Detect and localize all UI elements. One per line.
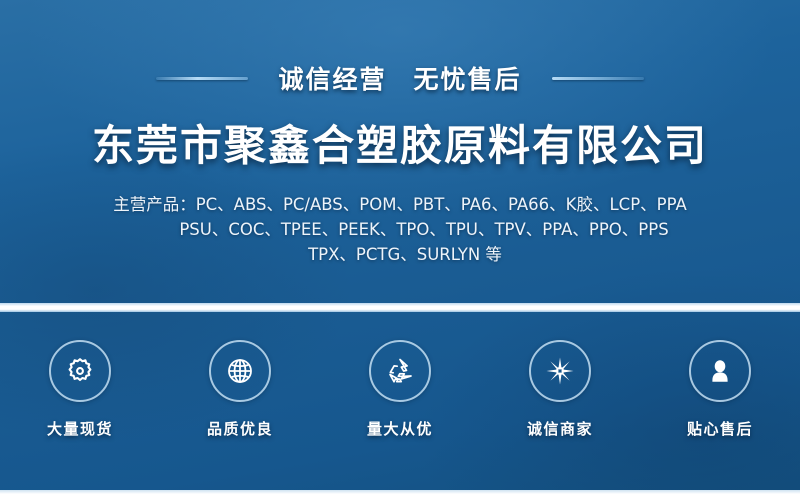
feature-label: 诚信商家 [527,418,593,439]
globe-icon [224,355,256,387]
user-icon [704,355,736,387]
section-divider [0,303,800,312]
company-name: 东莞市聚鑫合塑胶原料有限公司 [0,112,800,173]
tagline-text: 诚信经营 无忧售后 [278,60,521,96]
feature-icon-circle [689,340,751,402]
compass-star-icon [544,355,576,387]
product-line-1: 主营产品：PC、ABS、PC/ABS、POM、PBT、PA6、PA66、K胶、L… [0,192,800,217]
banner-upper-section: 诚信经营 无忧售后 东莞市聚鑫合塑胶原料有限公司 主营产品：PC、ABS、PC/… [0,0,800,303]
feature-icon-circle [529,340,591,402]
recycle-icon [384,355,416,387]
tagline-row: 诚信经营 无忧售后 [0,58,800,98]
feature-label: 量大从优 [367,418,433,439]
product-list: 主营产品：PC、ABS、PC/ABS、POM、PBT、PA6、PA66、K胶、L… [0,192,800,267]
feature-label: 大量现货 [47,418,113,439]
product-line-3: TPX、PCTG、SURLYN 等 [0,242,800,267]
feature-icon-circle [209,340,271,402]
gear-icon [64,355,96,387]
feature-icon-circle [49,340,111,402]
feature-label: 品质优良 [207,418,273,439]
company-banner: 诚信经营 无忧售后 东莞市聚鑫合塑胶原料有限公司 主营产品：PC、ABS、PC/… [0,0,800,500]
features-row: 大量现货 品质优良 [0,312,800,490]
feature-item-volume-discount: 量大从优 [330,340,470,439]
bottom-strip [0,490,800,500]
feature-item-quality: 品质优良 [170,340,310,439]
decorative-line-right-icon [552,77,644,80]
feature-item-stock: 大量现货 [10,340,150,439]
feature-icon-circle [369,340,431,402]
feature-label: 贴心售后 [687,418,753,439]
decorative-line-left-icon [156,77,248,80]
product-line-2: PSU、COC、TPEE、PEEK、TPO、TPU、TPV、PPA、PPO、PP… [0,217,800,242]
feature-item-after-sales: 贴心售后 [650,340,790,439]
feature-item-honest-merchant: 诚信商家 [490,340,630,439]
